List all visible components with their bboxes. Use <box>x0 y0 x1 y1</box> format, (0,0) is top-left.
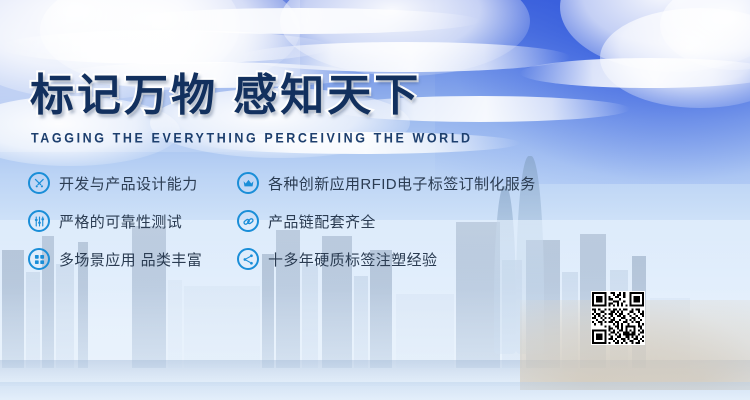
feature-label: 各种创新应用RFID电子标签订制化服务 <box>268 173 536 194</box>
feature-item-product-chain[interactable]: 产品链配套齐全 <box>237 210 376 232</box>
sliders-icon <box>28 210 50 232</box>
feature-label: 产品链配套齐全 <box>268 211 376 232</box>
feature-item-reliability-test[interactable]: 严格的可靠性测试 <box>28 210 182 232</box>
feature-item-molding-experience[interactable]: 十多年硬质标签注塑经验 <box>237 248 437 270</box>
feature-label: 严格的可靠性测试 <box>59 211 182 232</box>
page-title: 标记万物 感知天下 <box>30 74 421 118</box>
promo-banner: 标记万物 感知天下 TAGGING THE EVERYTHING PERCEIV… <box>0 0 750 400</box>
grid-icon <box>28 248 50 270</box>
crown-icon <box>237 172 259 194</box>
feature-item-multi-scenario[interactable]: 多场景应用 品类丰富 <box>28 248 202 270</box>
link-icon <box>237 210 259 232</box>
feature-item-rfid-customization[interactable]: 各种创新应用RFID电子标签订制化服务 <box>237 172 536 194</box>
feature-label: 开发与产品设计能力 <box>59 173 198 194</box>
feature-label: 多场景应用 品类丰富 <box>59 249 202 270</box>
feature-label: 十多年硬质标签注塑经验 <box>268 249 437 270</box>
tools-icon <box>28 172 50 194</box>
share-icon <box>237 248 259 270</box>
page-subtitle: TAGGING THE EVERYTHING PERCEIVING THE WO… <box>31 130 473 146</box>
feature-item-development[interactable]: 开发与产品设计能力 <box>28 172 198 194</box>
qr-code[interactable] <box>591 291 645 345</box>
